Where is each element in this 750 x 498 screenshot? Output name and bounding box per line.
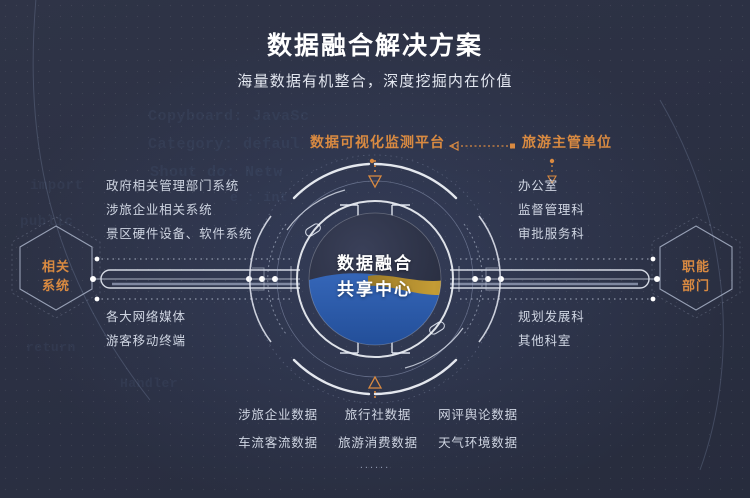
left-hexagon-label: 相关 系统 [18,257,94,295]
page-title: 数据融合解决方案 [0,26,750,62]
page-subtitle: 海量数据有机整合，深度挖掘内在价值 [0,70,750,91]
hex-label-line2: 系统 [18,276,94,295]
list-item: 天气环境数据 [428,432,528,460]
right-hexagon-label: 职能 部门 [658,257,734,295]
list-item: 网评舆论数据 [428,404,528,432]
bottom-data-grid: 涉旅企业数据 旅行社数据 网评舆论数据 车流客流数据 旅游消费数据 天气环境数据 [228,404,528,460]
label-tourism-authority[interactable]: 旅游主管单位 [522,132,612,152]
list-item: 旅行社数据 [328,404,428,432]
right-upper-list: 办公室 监督管理科 审批服务科 [518,174,585,246]
hex-label-line1: 职能 [658,257,734,276]
list-item: 车流客流数据 [228,432,328,460]
right-connector [450,257,660,302]
list-item: 审批服务科 [518,222,585,246]
list-item: 各大网络媒体 [106,305,186,329]
right-label-dot [550,159,554,163]
list-item: 景区硬件设备、软件系统 [106,222,252,246]
left-upper-list: 政府相关管理部门系统 涉旅企业相关系统 景区硬件设备、软件系统 [106,174,252,246]
left-lower-list: 各大网络媒体 游客移动终端 [106,305,186,353]
list-item: 涉旅企业数据 [228,404,328,432]
list-item: 其他科室 [518,329,585,353]
hex-label-line2: 部门 [658,276,734,295]
center-sphere-label: 数据融合 共享中心 [305,251,445,303]
list-item: 政府相关管理部门系统 [106,174,252,198]
infographic-canvas: Copyboard: JavaSc Category: defaul Shout… [0,0,750,498]
list-item: 监督管理科 [518,198,585,222]
label-visualization-platform[interactable]: 数据可视化监测平台 [310,132,445,152]
list-item: 游客移动终端 [106,329,186,353]
center-label-line2: 共享中心 [305,277,445,303]
left-label-dot [370,159,374,163]
center-label-line1: 数据融合 [305,251,445,277]
list-item: 办公室 [518,174,585,198]
top-labels-dotted-arrow [450,142,515,150]
bottom-ellipsis: ...... [0,459,750,471]
left-connector [90,257,300,302]
list-item: 旅游消费数据 [328,432,428,460]
list-item: 规划发展科 [518,305,585,329]
list-item: 涉旅企业相关系统 [106,198,252,222]
right-lower-list: 规划发展科 其他科室 [518,305,585,353]
hex-label-line1: 相关 [18,257,94,276]
